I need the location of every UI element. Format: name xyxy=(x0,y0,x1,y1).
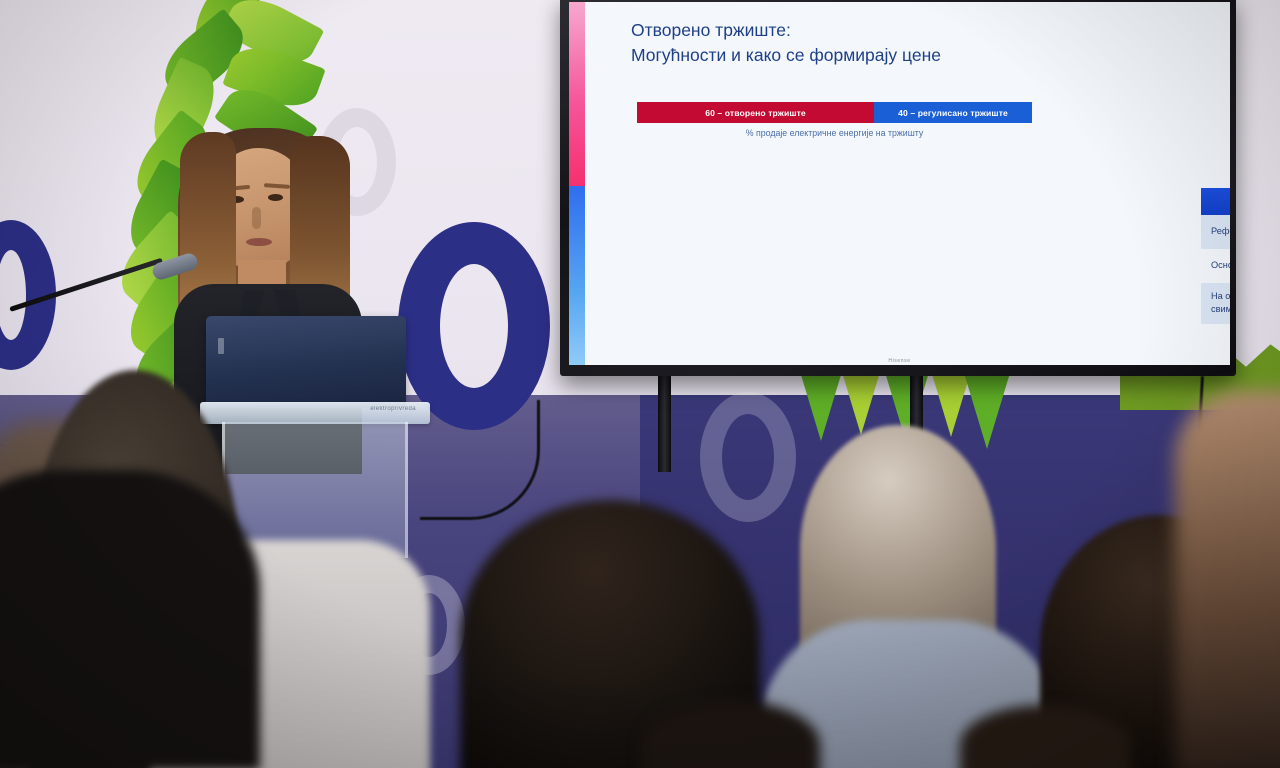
market-split-segment-open: 60 – отворено тржиште xyxy=(637,102,874,123)
market-split-caption: % продаје електричне енергије на тржишту xyxy=(637,128,1032,138)
lectern-logo: elektroprivreda xyxy=(370,406,416,412)
pricing-principles-table: Принципи формирања цене Референтне берзе… xyxy=(1201,188,1230,324)
slide-accent-strip-blue xyxy=(569,186,585,365)
tv-screen: Отворено тржиште: Могућности и како се ф… xyxy=(569,2,1230,365)
audience-member xyxy=(0,470,260,768)
tv-brand-label: Hisense xyxy=(888,358,910,364)
slide-title-line-2: Могућности и како се формирају цене xyxy=(631,43,1061,68)
presentation-display: Отворено тржиште: Могућности и како се ф… xyxy=(560,0,1236,376)
market-split-bar: 60 – отворено тржиште 40 – регулисано тр… xyxy=(637,102,1032,123)
slide-accent-strip-pink xyxy=(569,2,585,186)
audience-member xyxy=(1175,390,1280,768)
slide-title: Отворено тржиште: Могућности и како се ф… xyxy=(631,18,1061,69)
market-split-segment-regulated: 40 – регулисано тржиште xyxy=(874,102,1032,123)
microphone-icon xyxy=(150,251,199,281)
backdrop-letter-o-ghost-2 xyxy=(700,392,796,522)
table-row: На основу методологија којима се примењу… xyxy=(1201,283,1230,324)
pricing-principles-header: Принципи формирања цене xyxy=(1201,188,1230,215)
tv-stand-leg-left xyxy=(658,376,671,472)
table-row: Референтне берзе: EEX и SEEPEX xyxy=(1201,215,1230,249)
slide-accent-strip xyxy=(569,2,585,365)
tv-bezel: Отворено тржиште: Могућности и како се ф… xyxy=(560,0,1236,376)
conference-room-scene: elektroprivreda Отворено тржиште: Могућн… xyxy=(0,0,1280,768)
presentation-slide: Отворено тржиште: Могућности и како се ф… xyxy=(569,2,1230,365)
presenter-laptop xyxy=(206,316,406,408)
slide-title-line-1: Отворено тржиште: xyxy=(631,20,791,40)
table-row: Основа: велепродајне цене на берзи xyxy=(1201,249,1230,283)
